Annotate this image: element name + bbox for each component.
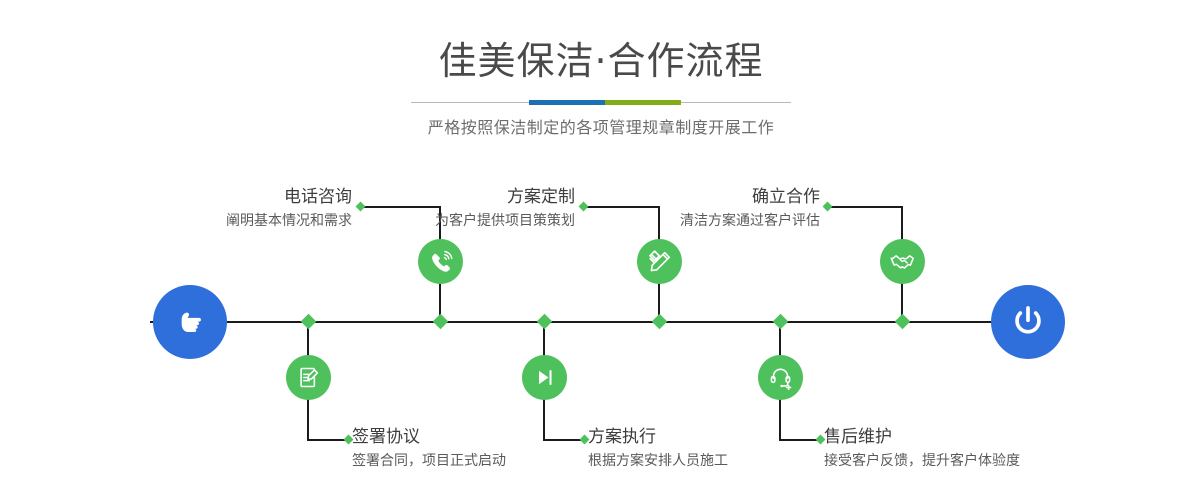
step-title: 售后维护	[824, 426, 1104, 448]
step-label-5: 确立合作 清洁方案通过客户评估	[590, 186, 820, 232]
step-label-4: 方案执行 根据方案安排人员施工	[588, 426, 838, 472]
customer-service-icon	[768, 365, 793, 390]
step-desc: 清洁方案通过客户评估	[590, 210, 820, 232]
step-title: 电话咨询	[120, 186, 352, 208]
document-edit-icon	[296, 365, 321, 390]
step-desc: 为客户提供项目策策划	[345, 210, 575, 232]
step-icon-node-5[interactable]	[880, 239, 925, 284]
timeline-marker	[433, 314, 449, 330]
timeline-marker	[773, 314, 789, 330]
timeline-marker	[895, 314, 911, 330]
step-icon-node-6[interactable]	[758, 355, 803, 400]
timeline-marker	[537, 314, 553, 330]
step-desc: 阐明基本情况和需求	[120, 210, 352, 232]
connector-arm	[307, 439, 348, 441]
timeline-axis	[150, 321, 1052, 323]
pointing-hand-icon	[170, 302, 210, 342]
step-title: 确立合作	[590, 186, 820, 208]
power-button-icon	[1007, 301, 1049, 343]
play-execute-icon	[532, 365, 557, 390]
step-label-6: 售后维护 接受客户反馈，提升客户体验度	[824, 426, 1104, 472]
step-label-1: 电话咨询 阐明基本情况和需求	[120, 186, 352, 232]
timeline-marker	[301, 314, 317, 330]
step-desc: 根据方案安排人员施工	[588, 450, 838, 472]
step-desc: 接受客户反馈，提升客户体验度	[824, 450, 1104, 472]
step-icon-node-2[interactable]	[286, 355, 331, 400]
step-icon-node-4[interactable]	[522, 355, 567, 400]
step-desc: 签署合同，项目正式启动	[352, 450, 602, 472]
step-title: 签署协议	[352, 426, 602, 448]
step-title: 方案执行	[588, 426, 838, 448]
connector-arm	[827, 206, 903, 208]
handshake-icon	[890, 249, 916, 275]
step-title: 方案定制	[345, 186, 575, 208]
step-label-2: 签署协议 签署合同，项目正式启动	[352, 426, 602, 472]
connector-endpoint	[823, 202, 833, 212]
step-icon-node-1[interactable]	[418, 239, 463, 284]
process-flow-infographic: 佳美保洁·合作流程 严格按照保洁制定的各项管理规章制度开展工作	[0, 0, 1202, 502]
step-icon-node-3[interactable]	[637, 239, 682, 284]
phone-call-icon	[428, 249, 454, 275]
timeline: 电话咨询 阐明基本情况和需求 签署协议 签署合同，项目正式启动	[0, 0, 1202, 502]
connector-endpoint	[579, 202, 589, 212]
timeline-end-node[interactable]	[991, 285, 1065, 359]
timeline-marker	[652, 314, 668, 330]
pencil-ruler-icon	[647, 249, 673, 275]
timeline-start-node[interactable]	[153, 285, 227, 359]
step-label-3: 方案定制 为客户提供项目策策划	[345, 186, 575, 232]
